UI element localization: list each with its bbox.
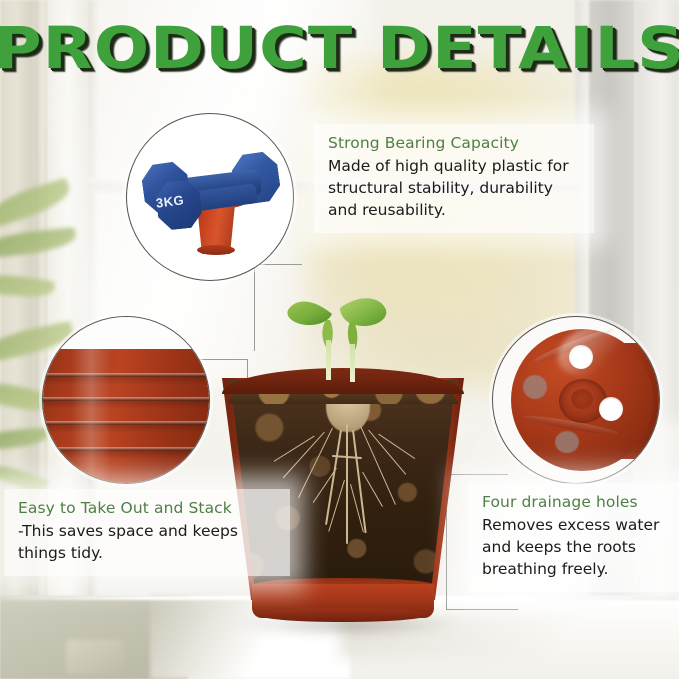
callout-easy-to-take-out-and-stack: Easy to Take Out and Stack -This saves s… [4,489,290,576]
seedling-svg [270,278,420,388]
stem-left [326,340,331,380]
dumbbell-scene: 3KG [127,114,293,280]
infographic-canvas: PRODUCT DETAILS 3KG [0,0,679,679]
stack-seam [42,421,210,425]
stacked-pots-body [42,349,210,484]
callout-body: -This saves space and keeps things tidy. [18,520,276,564]
root-strand [346,424,348,544]
inset-drainage-holes [492,316,660,484]
stack-seam [42,373,210,377]
callout-four-drainage-holes: Four drainage holes Removes excess water… [468,483,679,592]
root-strand [313,468,337,503]
drainage-hole [523,375,547,399]
pot-base-bottom [258,608,428,622]
leaf-right [340,298,386,326]
callout-heading: Strong Bearing Capacity [328,134,580,152]
root-strand [368,430,406,475]
callout-heading: Easy to Take Out and Stack [18,499,276,517]
root-strand [378,434,415,460]
drainage-hole [599,397,623,421]
leaf-blade [0,428,49,451]
inset-dumbbell-on-pot: 3KG [126,113,294,281]
pot-center-boss-inner [571,389,593,409]
stem-right [350,344,355,382]
root-strand [298,428,333,499]
root-strand [360,426,396,505]
drainage-holes-scene [493,317,659,483]
stacked-pots-scene [43,317,209,483]
inset-stacked-pots [42,316,210,484]
callout-body: Made of high quality plastic for structu… [328,155,580,221]
stack-highlight [71,349,111,484]
leaf-blade [0,227,77,259]
callout-strong-bearing-capacity: Strong Bearing Capacity Made of high qua… [314,124,594,233]
page-title: PRODUCT DETAILS [0,14,679,82]
window-latch [66,640,124,674]
drainage-hole [555,431,579,453]
leaf-blade [0,177,74,228]
stack-seam [42,447,210,451]
leaf-blade [0,271,55,302]
seedling [270,278,420,388]
root-strand [325,430,342,525]
root-strand [362,472,383,507]
callout-body: Removes excess water and keeps the roots… [482,514,679,580]
stack-seam [42,397,210,401]
upturned-pot-base [197,245,235,255]
callout-heading: Four drainage holes [482,493,679,511]
